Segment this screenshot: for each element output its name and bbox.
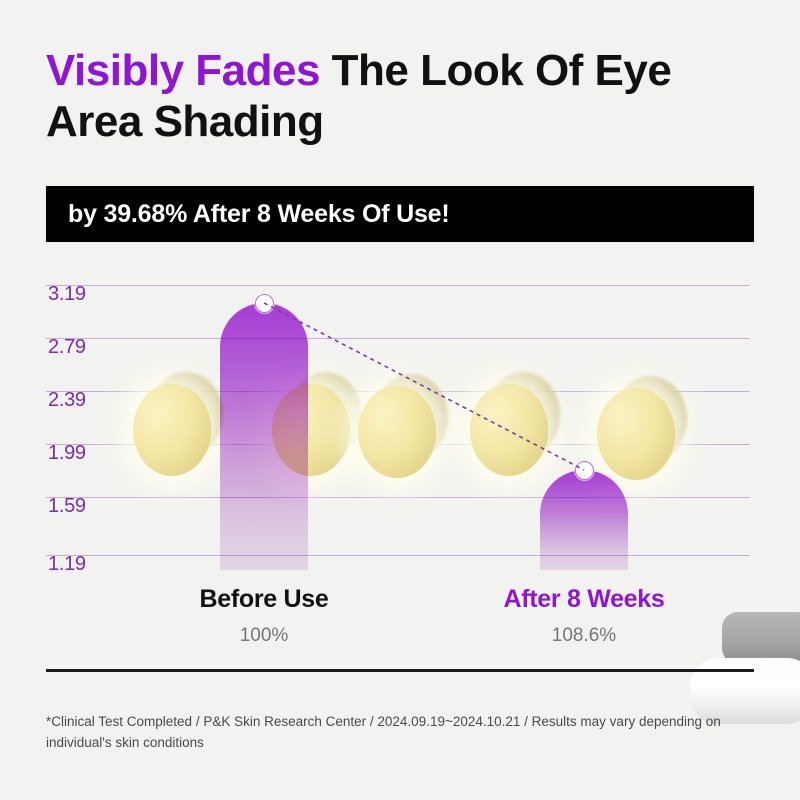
infographic-root: Visibly Fades The Look Of Eye Area Shadi… [0, 0, 800, 800]
trend-line [0, 270, 800, 570]
x-axis-percent-label-0: 100% [134, 625, 394, 647]
x-axis-category-label-1: After 8 Weeks [454, 585, 714, 614]
page-title: Visibly Fades The Look Of Eye Area Shadi… [46, 46, 746, 147]
highlight-banner: by 39.68% After 8 Weeks Of Use! [46, 186, 754, 242]
footnote-text: *Clinical Test Completed / P&K Skin Rese… [46, 712, 736, 754]
x-label-group-0: Before Use100% [134, 585, 394, 647]
headline-accent: Visibly Fades [46, 46, 320, 95]
x-axis-percent-label-1: 108.6% [454, 625, 714, 647]
x-label-group-1: After 8 Weeks108.6% [454, 585, 714, 647]
footer-divider [46, 669, 754, 672]
x-axis-category-label-0: Before Use [134, 585, 394, 614]
banner-text: by 39.68% After 8 Weeks Of Use! [46, 200, 449, 229]
chart-area: 3.192.792.391.991.591.19 [0, 270, 800, 600]
